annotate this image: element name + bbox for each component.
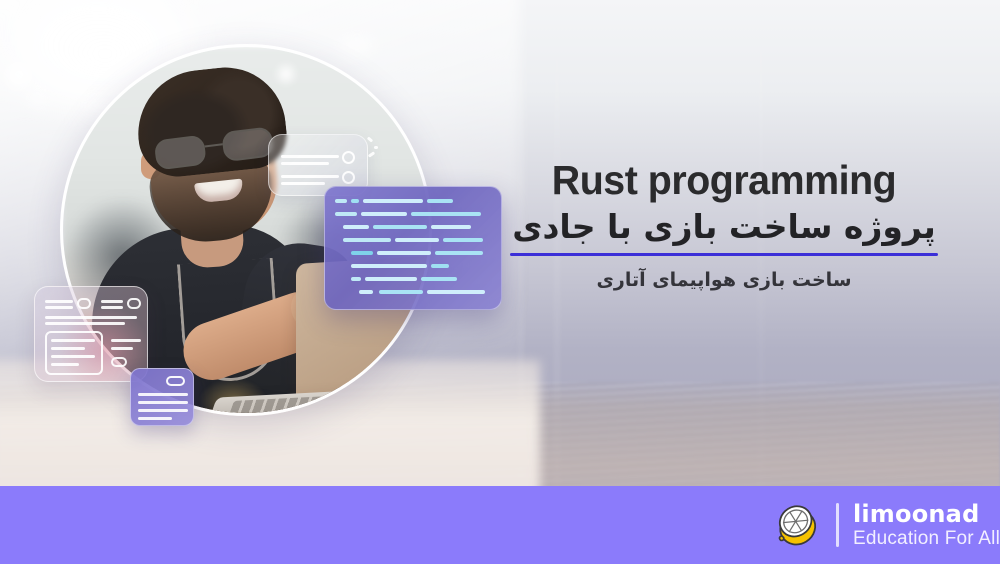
code-line	[427, 290, 485, 294]
code-line	[343, 238, 391, 242]
code-line	[351, 264, 427, 268]
list-line	[281, 162, 329, 165]
form-line	[101, 306, 123, 309]
code-line	[373, 225, 427, 229]
lemon-half-icon	[770, 499, 822, 551]
code-line	[335, 199, 347, 203]
doc-line	[138, 409, 188, 412]
code-editor-card	[324, 186, 502, 310]
toggle-circle-icon	[342, 151, 355, 164]
code-line	[343, 225, 369, 229]
code-line	[443, 238, 483, 242]
brand-lockup[interactable]: limoonad Education For All	[738, 499, 1000, 551]
code-line	[411, 212, 481, 216]
toggle-circle-icon	[342, 171, 355, 184]
form-line	[51, 363, 79, 366]
list-line	[281, 182, 325, 185]
code-line	[431, 264, 449, 268]
title-english: Rust programming	[509, 160, 939, 202]
form-line	[51, 355, 95, 358]
list-line	[281, 155, 339, 158]
course-banner: Rust programming پروژه ساخت بازی با جادی…	[0, 0, 1000, 564]
code-line	[427, 199, 453, 203]
code-line	[361, 212, 407, 216]
code-line	[365, 277, 417, 281]
sparkle-icon	[374, 146, 378, 149]
code-line	[395, 238, 439, 242]
form-line	[45, 300, 73, 303]
glasses-lens-left	[154, 135, 207, 171]
bokeh-light	[6, 62, 32, 88]
bokeh-light	[30, 90, 46, 106]
brand-text: limoonad Education For All	[853, 501, 1000, 549]
form-toggle-icon	[127, 298, 141, 309]
code-line	[379, 290, 423, 294]
form-line	[51, 339, 95, 342]
code-line	[431, 225, 471, 229]
code-line	[351, 277, 361, 281]
title-divider	[510, 253, 938, 256]
code-line	[363, 199, 423, 203]
form-line	[51, 347, 85, 350]
brand-divider	[836, 503, 839, 547]
doc-line	[138, 393, 188, 396]
glasses-bridge	[205, 143, 223, 147]
document-card	[130, 368, 194, 426]
text-block: Rust programming پروژه ساخت بازی با جادی…	[500, 160, 948, 291]
list-line	[281, 175, 339, 178]
glasses-lens-right	[221, 126, 274, 162]
footer-bar: limoonad Education For All	[0, 486, 1000, 564]
code-line	[351, 199, 359, 203]
code-line	[351, 251, 373, 255]
title-persian: پروژه ساخت بازی با جادی	[500, 206, 948, 247]
form-toggle-icon	[111, 357, 127, 367]
form-layout-card	[34, 286, 148, 382]
doc-badge-icon	[166, 376, 185, 386]
form-line	[45, 322, 125, 325]
form-line	[45, 306, 73, 309]
form-toggle-icon	[77, 298, 91, 309]
code-line	[421, 277, 457, 281]
form-panel	[45, 331, 103, 375]
code-line	[377, 251, 431, 255]
code-line	[335, 212, 357, 216]
doc-line	[138, 417, 172, 420]
brand-name: limoonad	[853, 501, 1000, 528]
brand-tagline: Education For All	[853, 528, 1000, 549]
code-line	[359, 290, 373, 294]
doc-line	[138, 401, 188, 404]
form-line	[111, 339, 141, 342]
form-line	[101, 300, 123, 303]
subtitle-persian: ساخت بازی هواپیمای آتاری	[500, 269, 948, 291]
form-line	[111, 347, 133, 350]
form-line	[45, 316, 137, 319]
code-line	[435, 251, 483, 255]
